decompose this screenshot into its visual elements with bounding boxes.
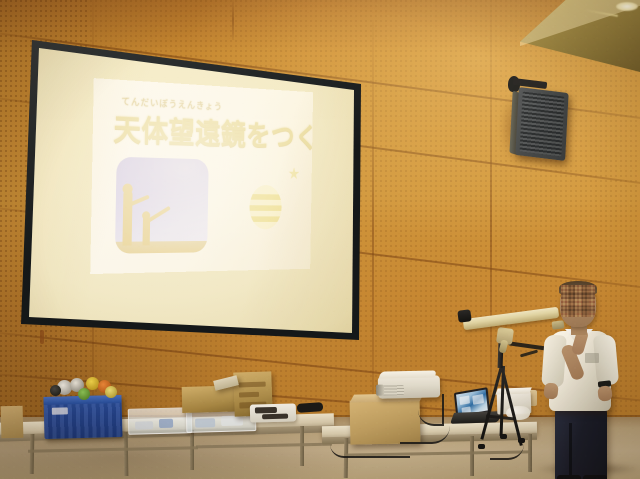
tape-roll [105,386,117,398]
presenter [543,283,625,479]
tape-roll [78,388,90,400]
table-leg [124,432,129,476]
table-leg [30,434,35,474]
shirt-logo [585,353,599,363]
table-leg [470,436,474,476]
list-item [43,395,122,439]
presenter-shoe [583,475,607,479]
black-tube-item [297,402,324,413]
projection-screen: てんだいぼうえんきょう 天体望遠鏡をつくろう！ [8,22,364,350]
tripod-foot [518,438,525,443]
telescope-objective-cap [457,309,471,323]
ceiling-light-icon [616,2,638,11]
wall-speaker [515,87,568,161]
tape-roll [50,385,61,396]
presenter-sleeve-left [541,334,567,387]
tripod-foot [478,444,485,449]
trouser-seam [569,423,572,479]
screen-vignette [8,22,364,350]
photo-scene: てんだいぼうえんきょう 天体望遠鏡をつくろう！ [0,0,640,479]
crate-label [52,407,68,414]
tripod-foot [500,434,507,439]
list-item [250,403,296,422]
tape-roll [86,377,99,390]
projector-lens [376,385,384,396]
presenter-trousers [555,405,607,479]
small-wooden-box [1,406,24,439]
projector-vent [382,385,404,395]
table-leg [190,430,194,470]
presenter-shoe [557,475,581,479]
speaker-grill [520,91,565,156]
power-cable [330,440,410,458]
face-pixelation-overlay [561,285,595,317]
